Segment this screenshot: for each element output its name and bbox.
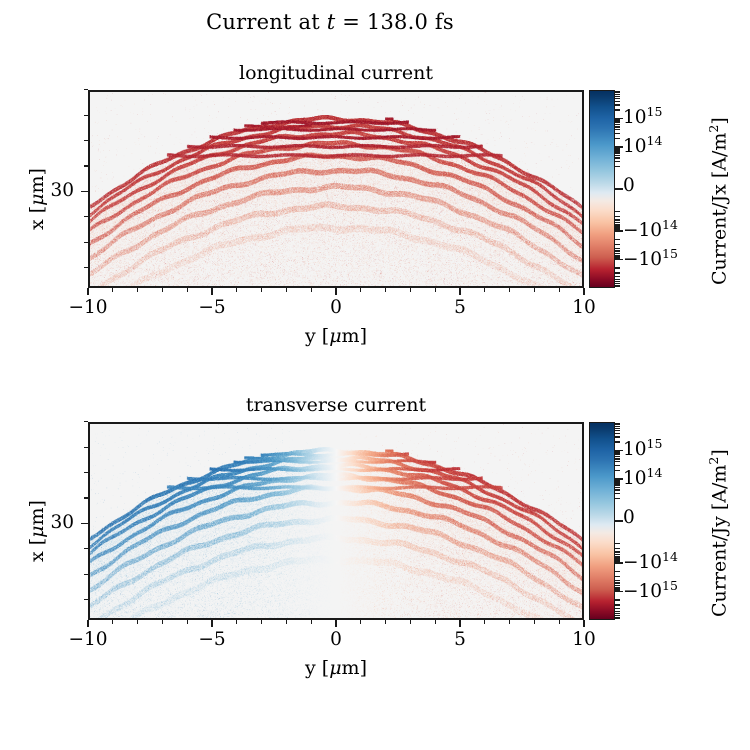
colorbar-tick-minor <box>615 580 620 581</box>
colorbar-tick-minor <box>615 482 620 483</box>
colorbar-label-transverse: Current/Jy [A/m2] <box>706 449 730 617</box>
colorbar-tick-minor <box>615 101 620 102</box>
colorbar-tick-minor <box>615 109 620 110</box>
colorbar-tick-minor <box>615 487 620 488</box>
figure-canvas: Current at t = 138.0 fs longitudinal cur… <box>0 0 750 750</box>
colorbar-tick-minor <box>615 119 620 120</box>
y-tick-minor <box>84 89 88 90</box>
x-tick-major <box>583 288 585 295</box>
x-tick-label: −10 <box>58 629 118 650</box>
y-tick-minor <box>84 472 88 473</box>
x-tick-minor <box>435 620 436 624</box>
y-tick-minor <box>84 216 88 217</box>
colorbar-tick-minor <box>615 543 620 544</box>
x-tick-major <box>583 620 585 627</box>
colorbar-tick-minor <box>615 104 620 105</box>
colorbar-tick-minor <box>615 548 620 549</box>
colorbar-tick-minor <box>615 267 620 268</box>
colorbar-tick-minor <box>615 426 620 427</box>
x-tick-minor <box>286 288 287 292</box>
colorbar-tick-minor <box>615 92 620 93</box>
colorbar-tick-minor <box>615 423 620 424</box>
x-tick-minor <box>311 620 312 624</box>
colorbar-tick-label: 1015 <box>623 436 662 460</box>
colorbar-tick-minor <box>615 96 620 97</box>
x-tick-minor <box>162 620 163 624</box>
colorbar-tick-minor <box>615 244 620 245</box>
colorbar-tick-label: 1015 <box>623 104 662 128</box>
colorbar-tick-minor <box>615 433 620 434</box>
x-tick-major <box>87 288 89 295</box>
x-tick-major <box>459 620 461 627</box>
y-tick-minor <box>84 242 88 243</box>
x-tick-major <box>459 288 461 295</box>
x-tick-label: 0 <box>306 297 366 318</box>
x-tick-minor <box>385 288 386 292</box>
x-tick-minor <box>484 620 485 624</box>
colorbar-tick-minor <box>615 451 620 452</box>
colorbar-tick-minor <box>615 571 620 572</box>
y-tick-minor <box>84 267 88 268</box>
colorbar-tick-minor <box>615 157 620 158</box>
colorbar-tick-minor <box>615 484 620 485</box>
x-tick-label: −5 <box>182 629 242 650</box>
x-tick-minor <box>534 620 535 624</box>
colorbar-tick-minor <box>615 120 620 121</box>
x-tick-minor <box>385 620 386 624</box>
colorbar-tick-minor <box>615 424 620 425</box>
x-tick-label: 0 <box>306 629 366 650</box>
x-tick-label: −5 <box>182 297 242 318</box>
colorbar-tick-minor <box>615 272 620 273</box>
x-tick-minor <box>112 288 113 292</box>
colorbar-tick-minor <box>615 576 620 577</box>
x-axis-label-longitudinal: y [μm] <box>88 325 584 347</box>
x-tick-major <box>335 288 337 295</box>
colorbar-tick-label: −1014 <box>623 217 678 241</box>
x-tick-minor <box>534 288 535 292</box>
x-tick-label: 10 <box>554 297 614 318</box>
colorbar-tick-minor <box>615 239 620 240</box>
colorbar-tick-minor <box>615 428 620 429</box>
x-tick-major <box>211 620 213 627</box>
colorbar-tick-major <box>615 591 623 593</box>
colorbar-tick-minor <box>615 276 620 277</box>
y-tick-major <box>81 523 88 525</box>
x-tick-minor <box>484 288 485 292</box>
colorbar-tick-minor <box>615 258 620 259</box>
colorbar-tick-minor <box>615 211 620 212</box>
x-tick-minor <box>435 288 436 292</box>
colorbar-tick-label: −1015 <box>623 246 678 270</box>
x-tick-label: 5 <box>430 297 490 318</box>
colorbar-transverse[interactable] <box>589 422 615 620</box>
panel-title-longitudinal: longitudinal current <box>88 62 584 84</box>
colorbar-tick-minor <box>615 98 620 99</box>
x-tick-minor <box>410 288 411 292</box>
y-tick-minor <box>84 421 88 422</box>
colorbar-tick-minor <box>615 599 620 600</box>
colorbar-tick-minor <box>615 155 620 156</box>
y-tick-minor <box>84 140 88 141</box>
colorbar-tick-minor <box>615 152 620 153</box>
y-tick-minor <box>84 574 88 575</box>
colorbar-tick-minor <box>615 279 620 280</box>
colorbar-tick-major <box>615 188 623 190</box>
colorbar-tick-label: 0 <box>623 507 635 528</box>
colorbar-tick-minor <box>615 582 620 583</box>
colorbar-tick-minor <box>615 430 620 431</box>
colorbar-tick-minor <box>615 611 620 612</box>
colorbar-tick-minor <box>615 138 620 139</box>
colorbar-tick-minor <box>615 461 620 462</box>
colorbar-tick-minor <box>615 551 620 552</box>
x-tick-minor <box>236 288 237 292</box>
x-tick-minor <box>509 620 510 624</box>
x-tick-minor <box>360 620 361 624</box>
colorbar-longitudinal[interactable] <box>589 90 615 288</box>
x-tick-minor <box>261 288 262 292</box>
colorbar-tick-minor <box>615 250 620 251</box>
x-tick-minor <box>137 620 138 624</box>
colorbar-tick-label: 1014 <box>623 133 662 157</box>
colorbar-tick-minor <box>615 561 620 562</box>
x-tick-major <box>211 288 213 295</box>
colorbar-tick-minor <box>615 456 620 457</box>
suptitle-equation: = 138.0 fs <box>335 10 454 34</box>
x-axis-label-transverse: y [μm] <box>88 657 584 679</box>
colorbar-tick-minor <box>615 479 620 480</box>
colorbar-tick-minor <box>615 248 620 249</box>
panel-title-transverse: transverse current <box>88 394 584 416</box>
x-tick-minor <box>261 620 262 624</box>
x-tick-label: 10 <box>554 629 614 650</box>
colorbar-tick-minor <box>615 493 620 494</box>
colorbar-tick-minor <box>615 124 620 125</box>
x-tick-major <box>87 620 89 627</box>
y-tick-minor <box>84 447 88 448</box>
colorbar-tick-minor <box>615 126 620 127</box>
x-tick-minor <box>187 288 188 292</box>
colorbar-tick-minor <box>615 441 620 442</box>
suptitle-prefix: Current at <box>206 10 327 34</box>
x-tick-minor <box>410 620 411 624</box>
colorbar-tick-minor <box>615 608 620 609</box>
colorbar-tick-minor <box>615 149 620 150</box>
plot-area-transverse[interactable] <box>88 422 584 620</box>
colorbar-tick-minor <box>615 222 620 223</box>
colorbar-tick-major <box>615 562 623 564</box>
x-tick-minor <box>162 288 163 292</box>
x-tick-minor <box>559 620 560 624</box>
x-tick-minor <box>286 620 287 624</box>
colorbar-tick-minor <box>615 91 620 92</box>
y-tick-minor <box>84 548 88 549</box>
colorbar-tick-minor <box>615 470 620 471</box>
colorbar-tick-major <box>615 520 623 522</box>
plot-area-longitudinal[interactable] <box>88 90 584 288</box>
colorbar-tick-minor <box>615 618 620 619</box>
colorbar-tick-minor <box>615 465 620 466</box>
colorbar-tick-minor <box>615 604 620 605</box>
x-tick-minor <box>112 620 113 624</box>
colorbar-tick-major <box>615 259 623 261</box>
colorbar-tick-label: 0 <box>623 175 635 196</box>
colorbar-tick-minor <box>615 489 620 490</box>
colorbar-tick-major <box>615 230 623 232</box>
y-tick-minor <box>84 165 88 166</box>
colorbar-tick-minor <box>615 161 620 162</box>
x-tick-major <box>335 620 337 627</box>
x-tick-minor <box>509 288 510 292</box>
colorbar-tick-minor <box>615 590 620 591</box>
figure-suptitle: Current at t = 138.0 fs <box>0 10 660 34</box>
colorbar-tick-minor <box>615 458 620 459</box>
scatter-layer-longitudinal <box>90 92 582 286</box>
x-tick-minor <box>559 288 560 292</box>
colorbar-tick-minor <box>615 229 620 230</box>
colorbar-tick-minor <box>615 219 620 220</box>
x-tick-minor <box>137 288 138 292</box>
colorbar-tick-minor <box>615 147 620 148</box>
colorbar-tick-label: −1015 <box>623 578 678 602</box>
colorbar-tick-minor <box>615 454 620 455</box>
y-tick-minor <box>84 115 88 116</box>
x-tick-label: 5 <box>430 629 490 650</box>
y-axis-label-transverse: x [μm] <box>26 500 48 562</box>
colorbar-tick-label: 1014 <box>623 465 662 489</box>
colorbar-tick-minor <box>615 122 620 123</box>
colorbar-tick-minor <box>615 498 620 499</box>
colorbar-tick-minor <box>615 216 620 217</box>
colorbar-tick-minor <box>615 481 620 482</box>
colorbar-tick-minor <box>615 94 620 95</box>
colorbar-tick-minor <box>615 452 620 453</box>
colorbar-tick-label: −1014 <box>623 549 678 573</box>
y-tick-major <box>81 191 88 193</box>
x-tick-minor <box>360 288 361 292</box>
colorbar-tick-minor <box>615 436 620 437</box>
colorbar-tick-minor <box>615 166 620 167</box>
x-tick-minor <box>311 288 312 292</box>
colorbar-tick-minor <box>615 554 620 555</box>
colorbar-tick-minor <box>615 129 620 130</box>
colorbar-tick-minor <box>615 133 620 134</box>
x-tick-minor <box>236 620 237 624</box>
scatter-layer-transverse <box>90 424 582 618</box>
x-tick-minor <box>187 620 188 624</box>
colorbar-tick-minor <box>615 150 620 151</box>
colorbar-tick-minor <box>615 286 620 287</box>
y-tick-minor <box>84 599 88 600</box>
y-axis-label-longitudinal: x [μm] <box>26 168 48 230</box>
y-tick-minor <box>84 497 88 498</box>
colorbar-label-longitudinal: Current/Jx [A/m2] <box>706 117 730 285</box>
x-tick-label: −10 <box>58 297 118 318</box>
